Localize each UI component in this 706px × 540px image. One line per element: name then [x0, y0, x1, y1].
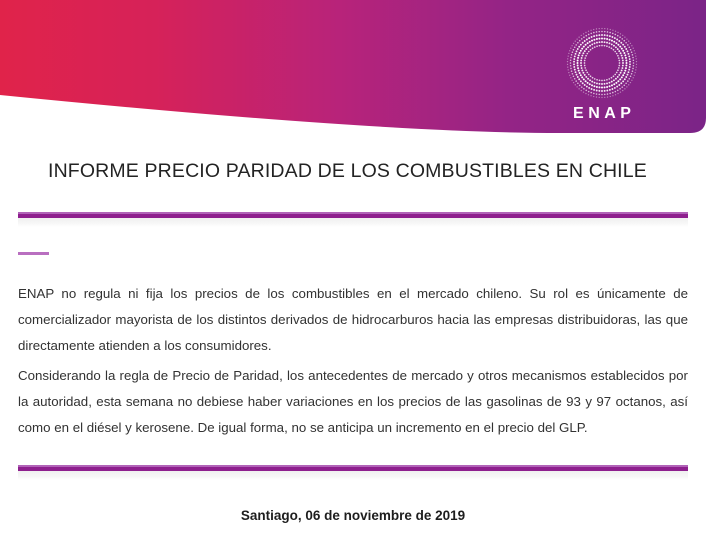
enap-wordmark: ENAP [561, 104, 643, 124]
enap-logo: ENAP [561, 22, 643, 128]
divider-rule-top-shadow [18, 218, 688, 227]
footer-date: Santiago, 06 de noviembre de 2019 [0, 508, 706, 523]
page-title: INFORME PRECIO PARIDAD DE LOS COMBUSTIBL… [48, 160, 688, 183]
paragraph-2: Considerando la regla de Precio de Parid… [18, 363, 688, 441]
divider-rule-bottom-shadow [18, 471, 688, 480]
enap-ring-logo-icon [561, 22, 643, 104]
document-page: ENAP INFORME PRECIO PARIDAD DE LOS COMBU… [0, 0, 706, 540]
header-banner: ENAP [0, 0, 706, 140]
paragraph-1: ENAP no regula ni fija los precios de lo… [18, 281, 688, 359]
accent-dash [18, 252, 49, 255]
